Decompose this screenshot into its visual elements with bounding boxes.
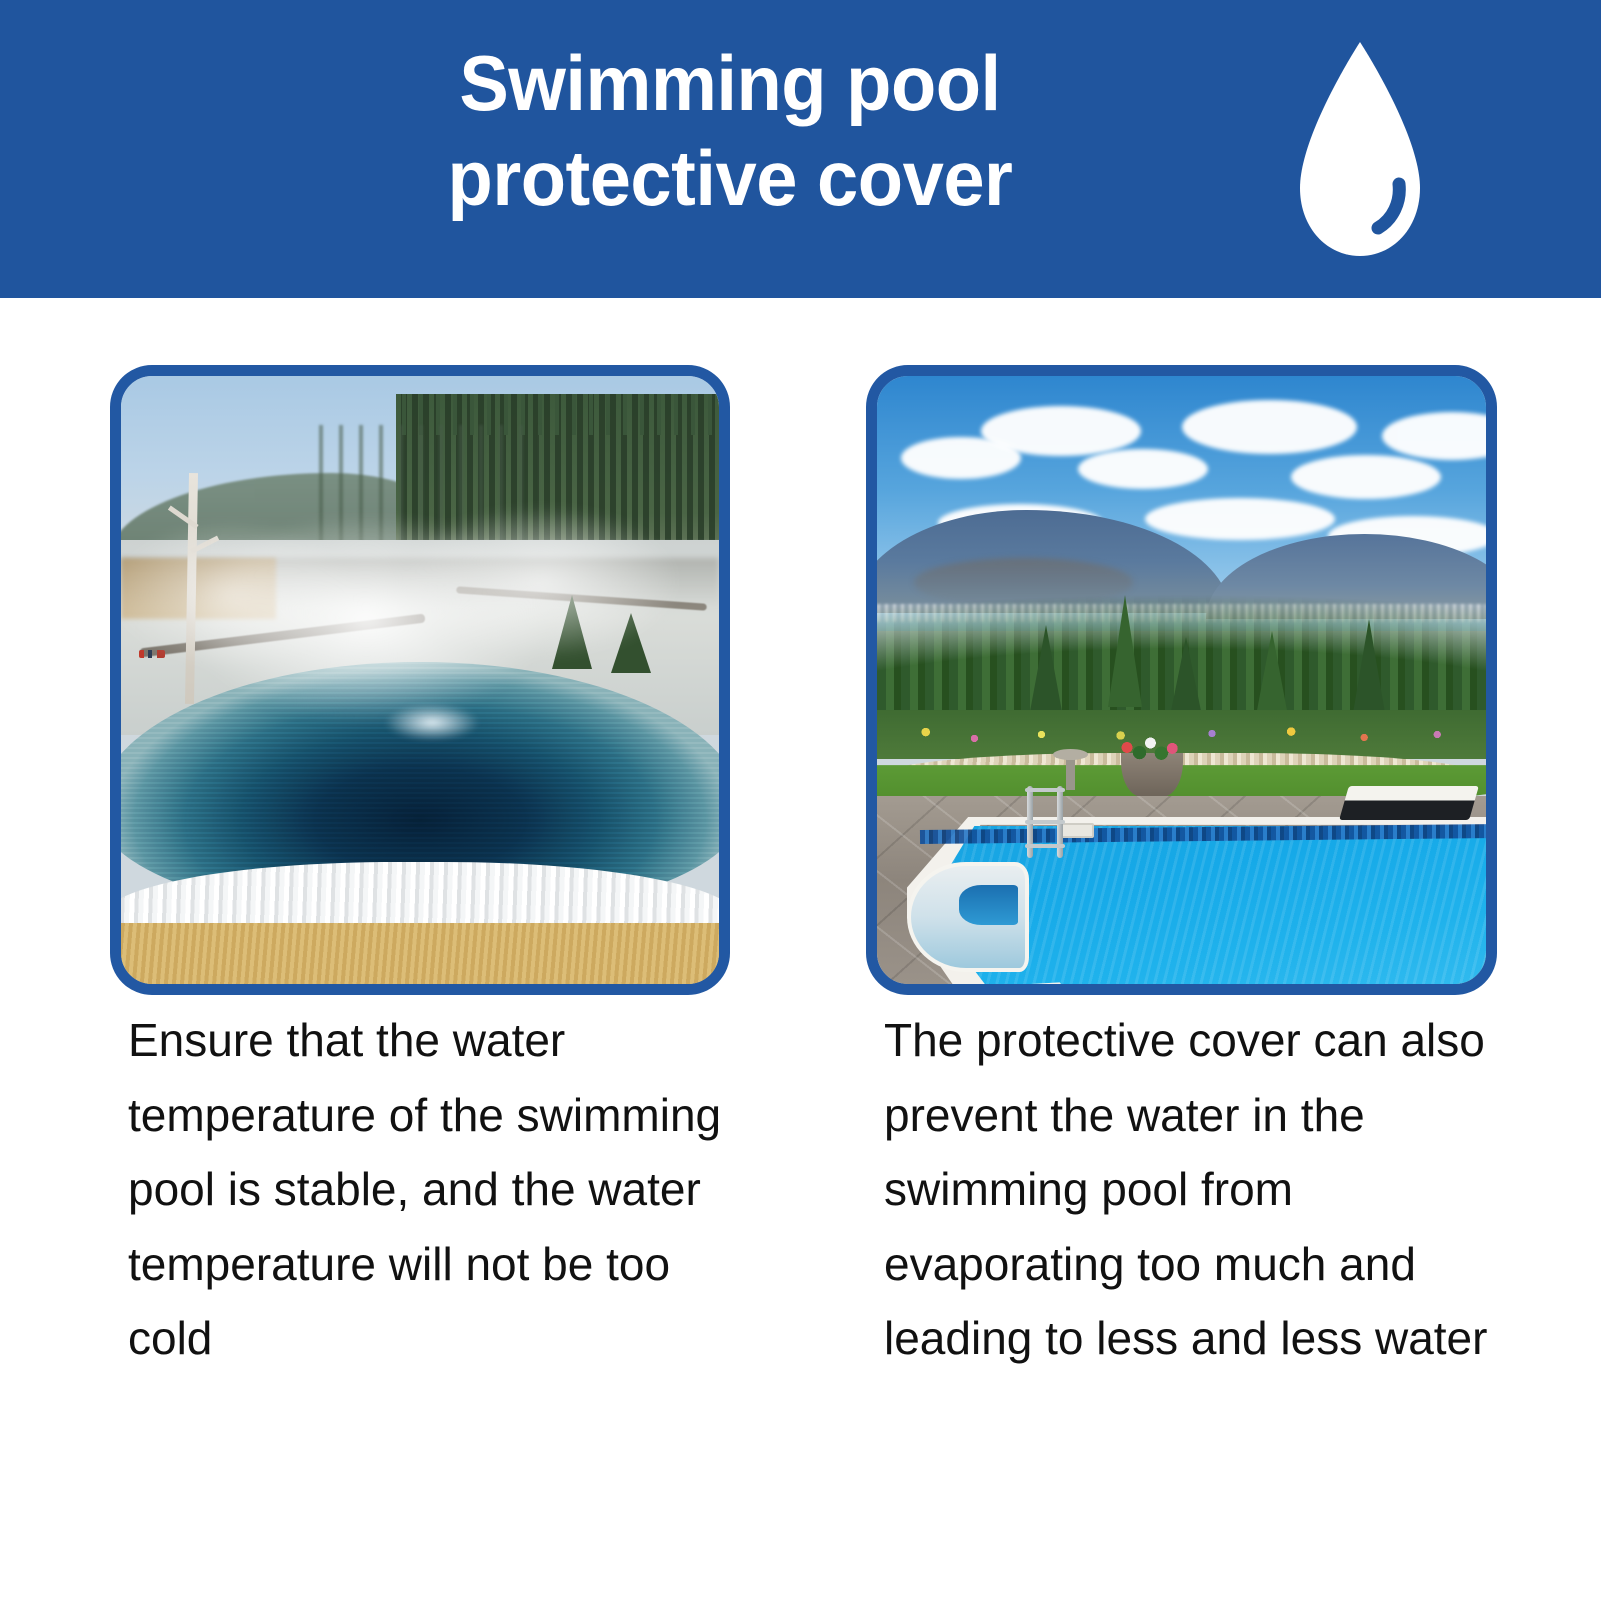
page-title: Swimming pool protective cover [274, 36, 1186, 226]
boiling-spot [384, 704, 480, 740]
bird-bath [1066, 756, 1075, 790]
sinter-sand-bank [121, 923, 719, 984]
caption-right: The protective cover can also prevent th… [884, 1003, 1504, 1376]
cloud-5 [1291, 455, 1441, 499]
ladder-step-2 [1025, 820, 1065, 824]
background-trees [312, 425, 539, 559]
cloud-3 [1078, 449, 1208, 489]
swimming-pool-photo [877, 376, 1486, 984]
diving-board [1339, 786, 1479, 820]
foreground-conifer-1 [552, 595, 592, 669]
foreground-conifer-2 [611, 613, 651, 673]
ladder-step-3 [1025, 844, 1065, 848]
ochre-bank [121, 558, 276, 619]
hot-spring-photo [121, 376, 719, 984]
caption-left: Ensure that the water temperature of the… [128, 1003, 738, 1376]
conifer-2 [1108, 595, 1142, 707]
header-banner: Swimming pool protective cover [0, 0, 1601, 298]
water-droplet-icon [1294, 38, 1426, 260]
flower-planter [1121, 753, 1183, 797]
pool-entry-steps [907, 862, 1029, 971]
conifer-4 [1255, 631, 1289, 721]
cloud-8 [1145, 498, 1335, 540]
cloud-4 [1182, 400, 1357, 454]
pool-ladder [1023, 786, 1081, 858]
swimming-pool-card [866, 365, 1497, 995]
visitors-on-boardwalk [139, 650, 165, 658]
hot-spring-card [110, 365, 730, 995]
conifer-5 [1352, 619, 1386, 719]
conifer-1 [1029, 625, 1063, 717]
conifer-3 [1169, 637, 1203, 721]
cloud-2 [981, 406, 1141, 456]
ladder-step-1 [1025, 788, 1065, 792]
